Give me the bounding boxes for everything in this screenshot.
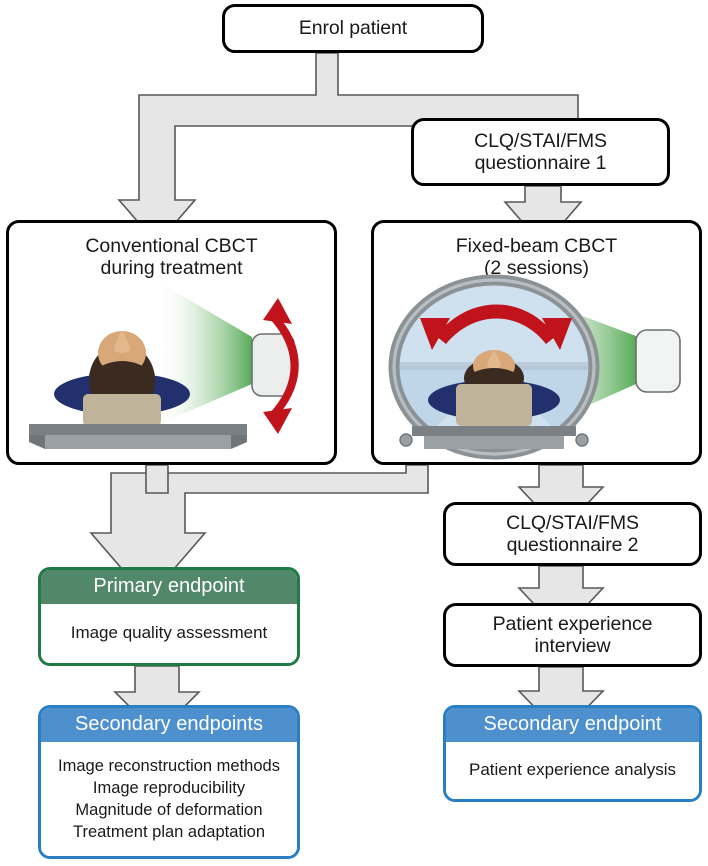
questionnaire-1-box[interactable]: CLQ/STAI/FMS questionnaire 1 xyxy=(411,118,670,186)
fixed-beam-cbct-inner: Fixed-beam CBCT (2 sessions) xyxy=(374,223,699,462)
connector-merge-left-stub xyxy=(146,465,168,493)
couch-edge-left-icon xyxy=(29,435,45,449)
red-curved-arrow-icon xyxy=(420,305,572,351)
gantry-bore-icon xyxy=(394,280,594,454)
primary-endpoint-header: Primary endpoint xyxy=(41,570,297,604)
questionnaire-2-box[interactable]: CLQ/STAI/FMS questionnaire 2 xyxy=(443,502,702,566)
bore-vane-left-icon xyxy=(382,366,494,450)
couch-base-icon xyxy=(424,436,564,449)
couch-top-icon xyxy=(29,424,247,435)
bore-vane-right-icon xyxy=(494,366,606,450)
flat-panel-detector-icon xyxy=(636,330,680,392)
patient-hair-icon xyxy=(464,358,524,398)
secondary-endpoints-header: Secondary endpoints xyxy=(41,708,297,742)
gantry-foot-right-icon xyxy=(576,434,588,446)
flat-panel-detector-icon xyxy=(252,334,294,396)
patient-nose-icon xyxy=(114,331,130,353)
bore-shadow-icon xyxy=(394,362,594,370)
green-beam-icon xyxy=(159,282,252,424)
conventional-cbct-illustration xyxy=(9,274,334,462)
patient-experience-interview-box[interactable]: Patient experience interview xyxy=(443,603,702,667)
patient-face-icon xyxy=(473,350,515,382)
connector-merge-to-primary xyxy=(91,465,428,577)
gantry-ring-icon xyxy=(394,280,594,454)
patient-nose-icon xyxy=(487,350,501,369)
gantry-foot-left-icon xyxy=(400,434,412,446)
enrol-patient-label: Enrol patient xyxy=(299,17,407,39)
conventional-cbct-label: Conventional CBCT during treatment xyxy=(9,235,334,279)
secondary-endpoint-body: Patient experience analysis xyxy=(446,742,699,799)
primary-endpoint-card[interactable]: Primary endpoint Image quality assessmen… xyxy=(38,567,300,666)
enrol-patient-box[interactable]: Enrol patient xyxy=(222,4,484,53)
couch-top-icon xyxy=(412,426,576,436)
secondary-endpoints-body: Image reconstruction methods Image repro… xyxy=(41,742,297,856)
gantry-ring-highlight-icon xyxy=(394,280,594,454)
red-double-arrow-vertical-icon xyxy=(263,298,299,434)
patient-torso-icon xyxy=(83,394,161,426)
fixed-beam-cbct-label: Fixed-beam CBCT (2 sessions) xyxy=(374,235,699,279)
patient-fringe-icon xyxy=(466,368,522,387)
pillow-icon xyxy=(428,380,560,420)
patient-experience-interview-label: Patient experience interview xyxy=(493,613,653,657)
pillow-icon xyxy=(54,373,190,415)
green-beam-icon xyxy=(524,294,636,434)
fixed-beam-cbct-box[interactable]: Fixed-beam CBCT (2 sessions) xyxy=(371,220,702,465)
patient-face-icon xyxy=(98,331,146,375)
primary-endpoint-body: Image quality assessment xyxy=(41,604,297,663)
fixed-beam-cbct-illustration xyxy=(374,274,699,462)
secondary-endpoint-card[interactable]: Secondary endpoint Patient experience an… xyxy=(443,705,702,802)
couch-base-icon xyxy=(45,435,231,449)
patient-hair-icon xyxy=(89,344,155,416)
secondary-endpoints-card[interactable]: Secondary endpoints Image reconstruction… xyxy=(38,705,300,859)
questionnaire-2-label: CLQ/STAI/FMS questionnaire 2 xyxy=(506,512,639,556)
questionnaire-1-label: CLQ/STAI/FMS questionnaire 1 xyxy=(474,130,607,174)
conventional-cbct-inner: Conventional CBCT during treatment xyxy=(9,223,334,462)
patient-torso-icon xyxy=(456,384,532,426)
couch-edge-right-icon xyxy=(231,435,247,449)
flowchart-canvas: Enrol patient CLQ/STAI/FMS questionnaire… xyxy=(0,0,708,866)
patient-fringe-icon xyxy=(89,361,155,390)
secondary-endpoint-header: Secondary endpoint xyxy=(446,708,699,742)
conventional-cbct-box[interactable]: Conventional CBCT during treatment xyxy=(6,220,337,465)
